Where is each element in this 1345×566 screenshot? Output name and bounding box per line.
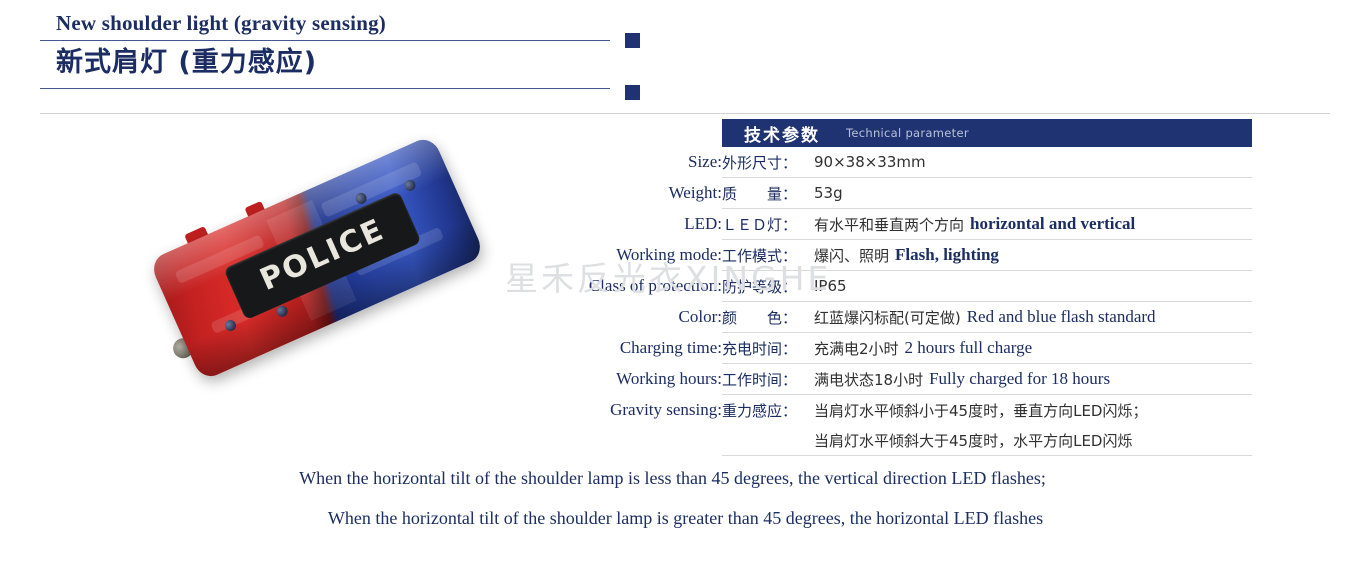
row-label-chinese: 充电时间： [722, 338, 814, 359]
row-label-chinese: 工作时间： [722, 369, 814, 390]
table-row: Working hours: 工作时间： 满电状态18小时 Fully char… [722, 364, 1252, 395]
row-value-english: horizontal and vertical [970, 214, 1135, 234]
row-label-english: Working mode: [422, 245, 722, 265]
row-value-english: Fully charged for 18 hours [929, 369, 1110, 389]
row-value-english: Red and blue flash standard [967, 307, 1156, 327]
table-row: Gravity sensing: 重力感应： 当肩灯水平倾斜小于45度时，垂直方… [722, 395, 1252, 456]
row-value: 有水平和垂直两个方向 [814, 214, 964, 235]
row-label-chinese: 颜 色： [722, 307, 814, 328]
footer-notes: When the horizontal tilt of the shoulder… [0, 458, 1345, 538]
row-value-english: Flash, lighting [895, 245, 999, 265]
row-label-english: Charging time: [422, 338, 722, 358]
table-row: LED: ＬＥＤ灯： 有水平和垂直两个方向 horizontal and ver… [722, 209, 1252, 240]
row-value-english: 2 hours full charge [905, 338, 1033, 358]
row-value: 53g [814, 184, 843, 202]
table-row: Working mode: 工作模式： 爆闪、照明 Flash, lightin… [722, 240, 1252, 271]
row-value: 90×38×33mm [814, 153, 926, 171]
row-value: IP65 [814, 277, 847, 295]
row-value-line2: 当肩灯水平倾斜大于45度时，水平方向LED闪烁 [814, 430, 1132, 451]
row-label-chinese: 工作模式： [722, 245, 814, 266]
lamp-screw [275, 304, 290, 319]
row-value: 爆闪、照明 [814, 245, 889, 266]
row-label-chinese: 重力感应： [722, 400, 814, 421]
header-separator-rule [40, 113, 1330, 114]
spec-table-header: 技术参数 Technical parameter [722, 119, 1252, 147]
row-label-english: Color: [422, 307, 722, 327]
row-value: 当肩灯水平倾斜小于45度时，垂直方向LED闪烁； [814, 400, 1147, 421]
row-label-chinese: 质 量： [722, 183, 814, 204]
row-label-chinese: 外形尺寸： [722, 152, 814, 173]
footer-note: When the horizontal tilt of the shoulder… [0, 498, 1345, 538]
spec-table: 技术参数 Technical parameter Size: 外形尺寸： 90×… [722, 119, 1252, 147]
row-label-english: Gravity sensing: [422, 400, 722, 420]
decor-square-bottom [625, 85, 640, 100]
title-block: New shoulder light (gravity sensing) 新式肩… [40, 8, 610, 89]
row-label-english: Weight: [422, 183, 722, 203]
page-title-chinese: 新式肩灯 (重力感应) [40, 41, 610, 85]
decor-square-top [625, 33, 640, 48]
spec-rows: Size: 外形尺寸： 90×38×33mm Weight: 质 量： 53g … [722, 147, 1252, 456]
product-spec-sheet: New shoulder light (gravity sensing) 新式肩… [0, 0, 1345, 566]
spec-header-english: Technical parameter [846, 126, 969, 140]
table-row: Weight: 质 量： 53g [722, 178, 1252, 209]
table-row: Class of protection: 防护等级： IP65 [722, 271, 1252, 302]
row-label-english: Working hours: [422, 369, 722, 389]
table-row: Charging time: 充电时间： 充满电2小时 2 hours full… [722, 333, 1252, 364]
row-value: 满电状态18小时 [814, 369, 923, 390]
table-row: Color: 颜 色： 红蓝爆闪标配(可定做) Red and blue fla… [722, 302, 1252, 333]
row-value: 红蓝爆闪标配(可定做) [814, 307, 961, 328]
row-label-english: Size: [422, 152, 722, 172]
row-label-chinese: ＬＥＤ灯： [722, 214, 814, 235]
row-label-english: Class of protection: [422, 276, 722, 296]
row-value: 充满电2小时 [814, 338, 899, 359]
page-title-english: New shoulder light (gravity sensing) [40, 8, 610, 38]
title-divider-bottom [40, 88, 610, 89]
spec-header-chinese: 技术参数 [744, 121, 820, 146]
footer-note: When the horizontal tilt of the shoulder… [0, 458, 1345, 498]
table-row: Size: 外形尺寸： 90×38×33mm [722, 147, 1252, 178]
row-label-english: LED: [422, 214, 722, 234]
row-label-chinese: 防护等级： [722, 276, 814, 297]
